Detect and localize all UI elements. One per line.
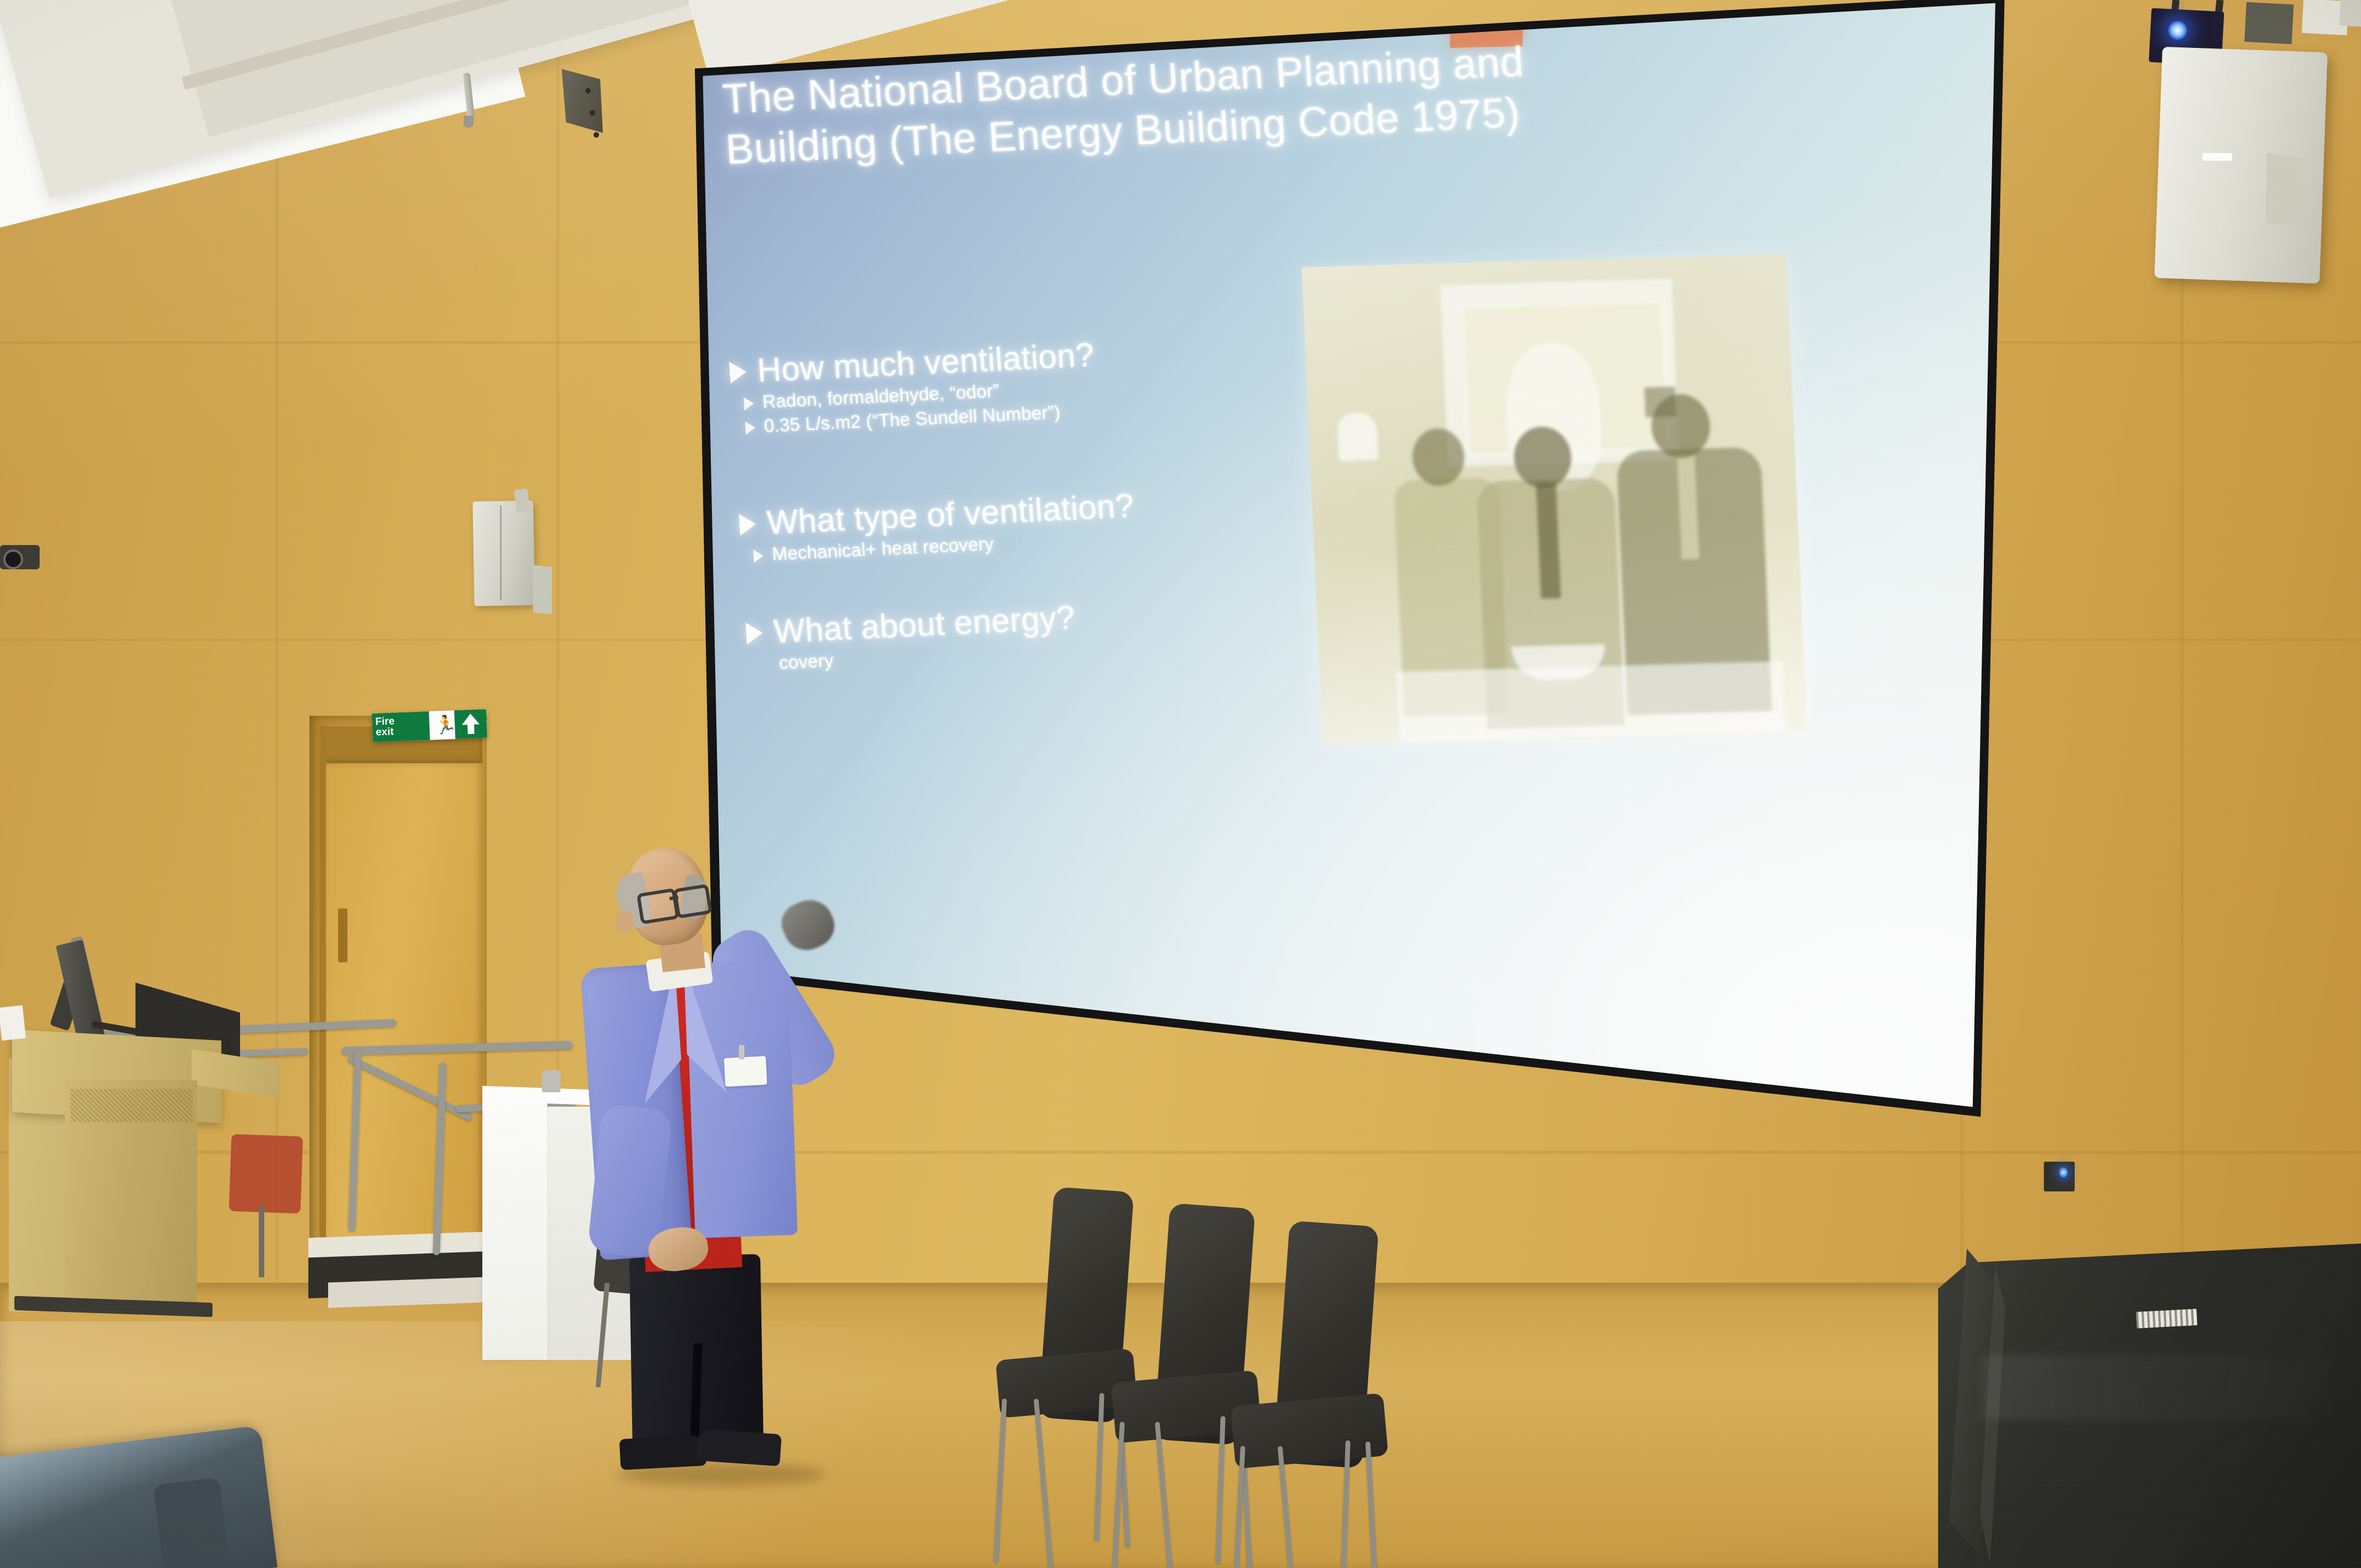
ceiling-fixture	[2340, 0, 2361, 28]
lectern-speaker-grille	[70, 1089, 193, 1122]
chair-leg	[993, 1398, 1007, 1564]
fire-exit-arrow-panel	[454, 709, 487, 739]
lecture-hall-scene: Fire exit 🏃 Th	[0, 0, 2361, 1568]
chair-leg	[1033, 1398, 1055, 1568]
camera-lens-icon	[3, 549, 23, 569]
bracket-bolt-icon	[590, 110, 595, 116]
chair-leg	[1111, 1422, 1125, 1568]
wall-control-panel[interactable]	[2044, 1162, 2075, 1191]
white-pedestal-left-face	[482, 1097, 547, 1360]
chair-leg	[1155, 1422, 1176, 1568]
bullet-triangle-icon	[729, 361, 747, 383]
arrow-up-stem-icon	[467, 724, 475, 734]
presenter-ear	[616, 910, 633, 934]
bullet-triangle-icon	[745, 421, 755, 435]
fire-exit-text-block: Fire exit	[372, 711, 430, 742]
glasses-icon	[673, 884, 712, 918]
bullet-triangle-icon	[739, 513, 757, 535]
chair-seat	[1231, 1393, 1389, 1469]
badge-clip	[739, 1045, 744, 1059]
fire-exit-sign: Fire exit 🏃	[372, 709, 487, 742]
speaker-seam	[500, 505, 502, 600]
pedestal-clip	[542, 1070, 561, 1092]
blue-led-indicator-icon	[2059, 1167, 2068, 1178]
bullet-triangle-icon	[753, 549, 764, 563]
photo-wall-lamp	[1337, 413, 1379, 461]
fire-exit-pictogram-panel: 🏃	[429, 710, 455, 740]
bracket-bolt-icon	[585, 88, 591, 94]
drape-highlight	[1982, 1354, 2361, 1420]
blue-led-indicator-icon	[2168, 21, 2187, 40]
speaker-port-slot	[2202, 153, 2232, 161]
foreground-chair-arm	[153, 1477, 232, 1568]
glasses-icon	[637, 888, 679, 924]
chair[interactable]	[1220, 1223, 1456, 1568]
chair-leg	[1366, 1441, 1379, 1568]
bracket-bolt-icon	[594, 132, 599, 138]
door-jamb	[319, 726, 326, 1288]
ceiling-hanger-tip	[464, 116, 474, 128]
photo-table	[1396, 661, 1785, 743]
ceiling-fixture	[2244, 2, 2294, 44]
speaker-mount-bracket	[514, 488, 530, 513]
door-handle[interactable]	[338, 908, 347, 962]
wall-speaker-left	[472, 500, 535, 606]
slide-bullet-list: How much ventilation? Radon, formaldehyd…	[728, 327, 1315, 677]
arrow-up-icon	[461, 714, 480, 725]
speaker-base-bracket	[2266, 153, 2303, 228]
slide-photo	[1302, 254, 1807, 746]
bullet-triangle-icon	[743, 397, 754, 411]
paper-sheet	[0, 1005, 26, 1041]
fire-exit-line2: exit	[376, 726, 430, 738]
bullet-text: covery	[779, 649, 834, 674]
drape-label-tag	[2136, 1309, 2197, 1329]
name-badge	[724, 1056, 768, 1087]
presenter	[578, 848, 798, 1470]
presenter-shoe	[696, 1429, 782, 1466]
background-chair[interactable]	[229, 1134, 303, 1213]
chair-leg	[259, 1206, 264, 1277]
bullet-triangle-icon	[746, 622, 763, 644]
presenter-jacket-right	[686, 960, 797, 1238]
presenter-shoe	[619, 1435, 707, 1470]
running-person-icon: 🏃	[434, 714, 451, 737]
speaker-side-face	[533, 565, 552, 614]
